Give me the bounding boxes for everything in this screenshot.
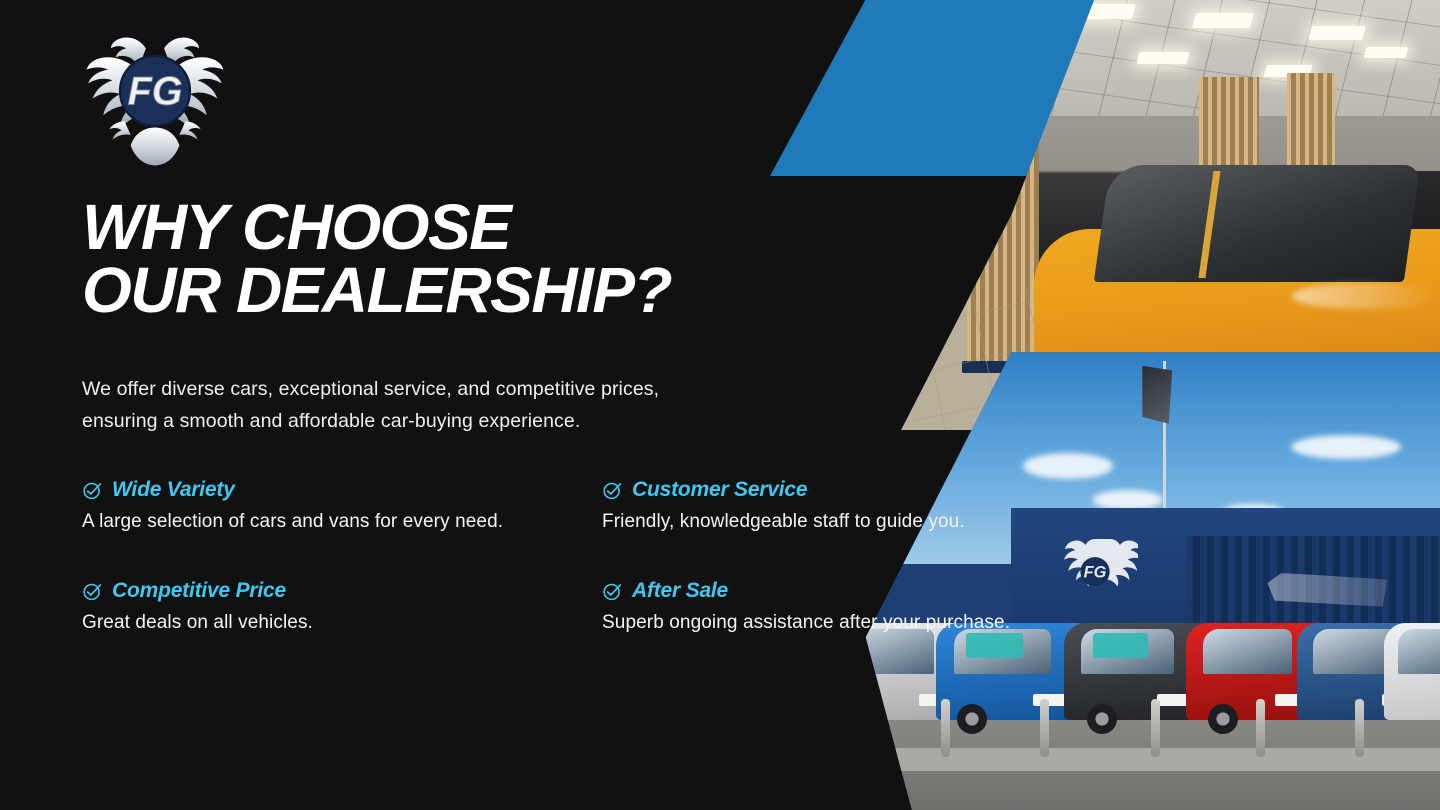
poster-canvas: FG: [0, 0, 1440, 810]
feature-description: Friendly, knowledgeable staff to guide y…: [602, 511, 1102, 533]
feature-description: Great deals on all vehicles.: [82, 612, 602, 634]
check-circle-icon: [602, 480, 623, 501]
double-headed-eagle-crest-icon: FG: [78, 18, 232, 170]
feature-description: A large selection of cars and vans for e…: [82, 511, 602, 533]
page-title: WHY CHOOSE OUR DEALERSHIP?: [82, 196, 862, 321]
headline-line-1: WHY CHOOSE: [82, 191, 510, 263]
intro-line-2: ensuring a smooth and affordable car-buy…: [82, 410, 580, 432]
check-circle-icon: [602, 581, 623, 602]
feature-title: Competitive Price: [112, 579, 286, 603]
check-circle-icon: [82, 480, 103, 501]
brand-logo: FG: [78, 18, 232, 170]
intro-line-1: We offer diverse cars, exceptional servi…: [82, 378, 659, 400]
feature-item-after-sale: After Sale Superb ongoing assistance aft…: [602, 579, 1102, 634]
feature-title: Customer Service: [632, 478, 807, 502]
feature-title: After Sale: [632, 579, 728, 603]
feature-item-wide-variety: Wide Variety A large selection of cars a…: [82, 478, 602, 533]
feature-title: Wide Variety: [112, 478, 235, 502]
feature-list: Wide Variety A large selection of cars a…: [82, 478, 1112, 634]
feature-description: Superb ongoing assistance after your pur…: [602, 612, 1102, 634]
intro-paragraph: We offer diverse cars, exceptional servi…: [82, 374, 822, 437]
feature-item-customer-service: Customer Service Friendly, knowledgeable…: [602, 478, 1102, 533]
svg-text:FG: FG: [128, 70, 183, 114]
feature-item-competitive-price: Competitive Price Great deals on all veh…: [82, 579, 602, 634]
headline-line-2: OUR DEALERSHIP?: [82, 259, 862, 322]
check-circle-icon: [82, 581, 103, 602]
